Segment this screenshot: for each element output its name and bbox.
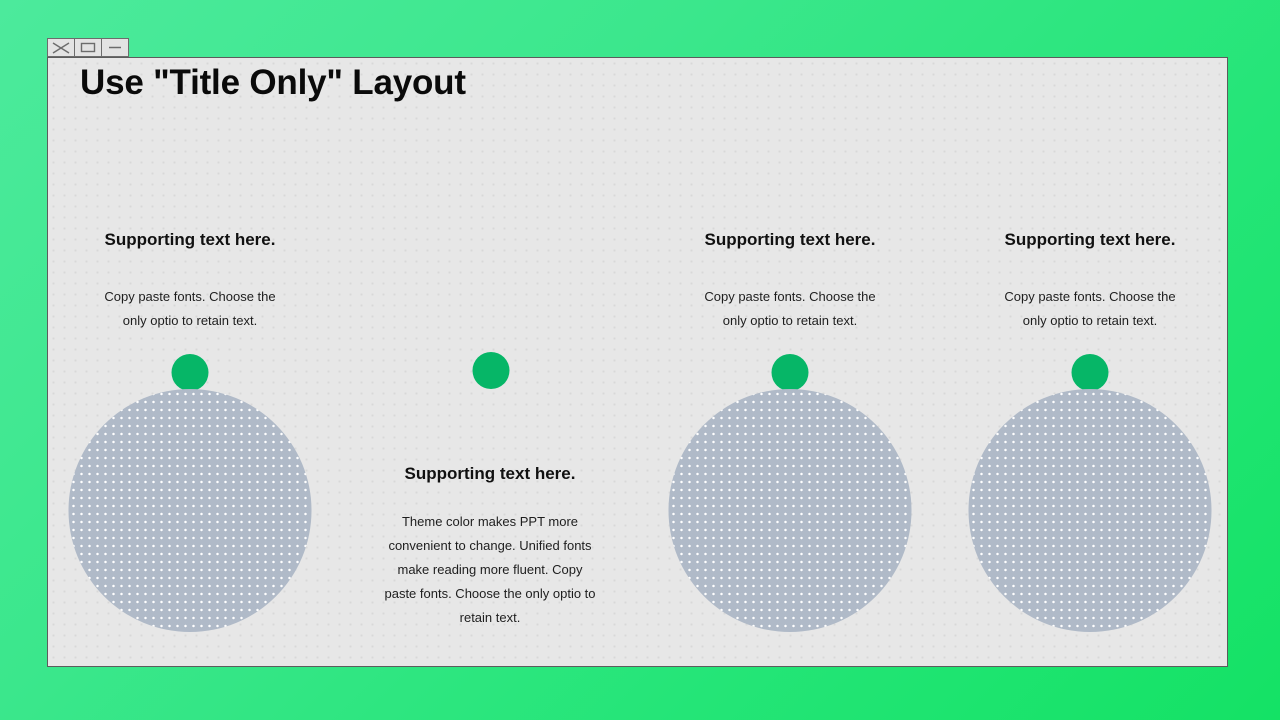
accent-dot-icon [1072,354,1109,391]
column-body-text: Copy paste fonts. Choose the only optio … [640,285,940,333]
close-icon [52,42,70,54]
minimize-button[interactable] [101,38,129,57]
dotted-circle-graphic [969,389,1212,632]
slide-canvas[interactable]: Use "Title Only" Layout Supporting text … [47,57,1228,667]
content-column-3: Supporting text here. Copy paste fonts. … [640,58,940,666]
column-heading: Supporting text here. [640,230,940,250]
accent-dot-icon [772,354,809,391]
minimize-icon [107,42,123,53]
dotted-circle-graphic [69,389,312,632]
accent-dot-icon [172,354,209,391]
dotted-circle-graphic [669,389,912,632]
column-body-text: Theme color makes PPT more convenient to… [340,510,640,630]
maximize-button[interactable] [74,38,102,57]
column-body-text: Copy paste fonts. Choose the only optio … [940,285,1228,333]
close-button[interactable] [47,38,75,57]
column-heading: Supporting text here. [340,464,640,484]
maximize-icon [80,42,96,53]
column-body-text: Copy paste fonts. Choose the only optio … [47,285,340,333]
column-heading: Supporting text here. [47,230,340,250]
column-heading: Supporting text here. [940,230,1228,250]
content-column-2: Supporting text here. Theme color makes … [340,58,640,666]
accent-dot-icon [473,352,510,389]
window-controls [47,38,128,57]
content-column-1: Supporting text here. Copy paste fonts. … [47,58,340,666]
content-column-4: Supporting text here. Copy paste fonts. … [940,58,1228,666]
